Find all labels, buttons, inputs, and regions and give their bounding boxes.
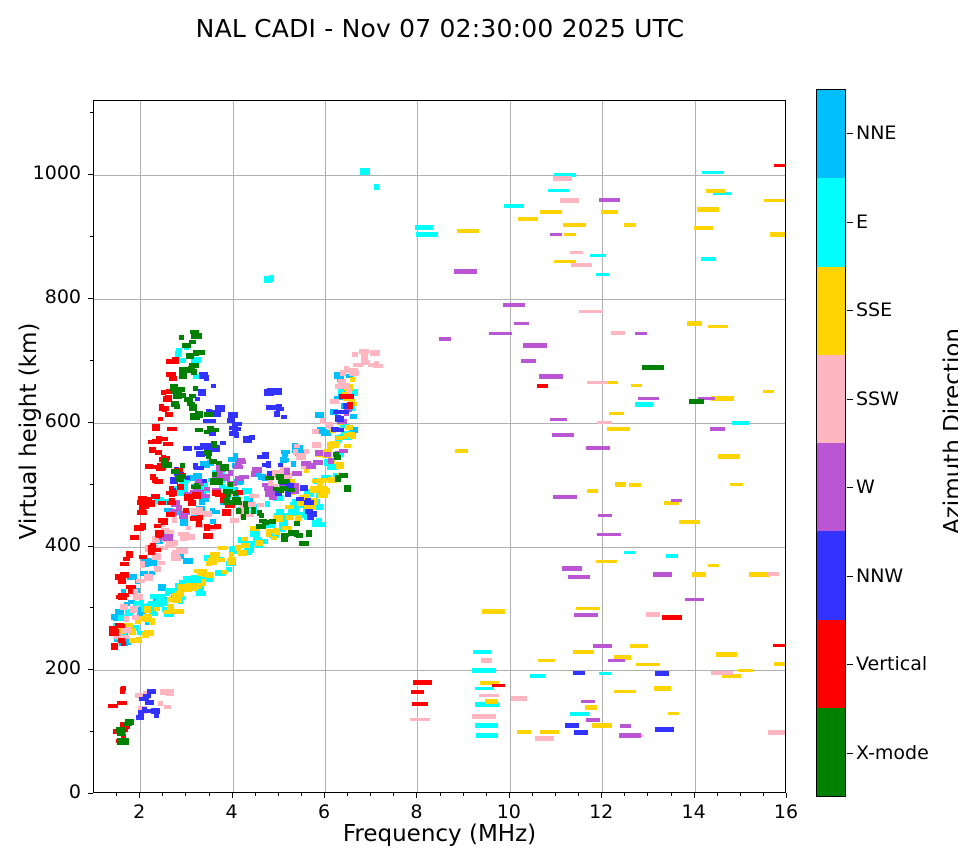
data-point — [222, 509, 231, 516]
data-point — [514, 322, 529, 325]
data-point — [416, 232, 438, 237]
data-point — [137, 500, 142, 505]
data-point — [264, 276, 271, 283]
data-point — [662, 615, 682, 620]
data-point — [635, 402, 653, 407]
data-point — [195, 397, 200, 401]
data-point — [476, 733, 498, 738]
data-point — [614, 690, 636, 693]
x-tick — [786, 793, 787, 798]
data-point — [111, 643, 118, 650]
data-point — [586, 718, 600, 722]
data-point — [136, 715, 144, 720]
colorbar-label: Azimuth Direction — [940, 271, 958, 591]
data-point — [327, 442, 334, 449]
data-point — [164, 705, 171, 709]
data-point — [244, 507, 249, 514]
gridline-vertical — [695, 101, 696, 792]
x-tick-minor — [162, 793, 163, 796]
data-point — [304, 500, 314, 505]
data-point — [273, 487, 279, 491]
data-point — [237, 458, 245, 464]
data-point — [296, 533, 303, 538]
data-point — [585, 705, 597, 710]
data-point — [193, 386, 198, 391]
data-point — [280, 486, 288, 491]
data-point — [624, 223, 636, 227]
colorbar-tick — [847, 310, 853, 311]
data-point — [475, 687, 494, 690]
data-point — [539, 374, 563, 379]
data-point — [156, 532, 162, 538]
x-tick-minor — [740, 793, 741, 796]
data-point — [133, 594, 143, 600]
data-point — [145, 700, 154, 705]
data-point — [593, 644, 612, 648]
data-point — [299, 541, 309, 546]
data-point — [504, 204, 524, 208]
data-point — [768, 572, 779, 576]
data-point — [304, 469, 309, 473]
data-point — [540, 730, 559, 734]
x-tick-minor — [532, 793, 533, 796]
colorbar-band-ssw — [817, 355, 845, 443]
data-point — [266, 405, 276, 410]
data-point — [292, 471, 302, 476]
data-point — [109, 629, 119, 636]
data-point — [347, 402, 353, 409]
data-point — [220, 464, 229, 471]
data-point — [148, 440, 153, 444]
data-point — [257, 503, 264, 507]
data-point — [204, 450, 212, 455]
data-point — [177, 484, 184, 490]
data-point — [489, 332, 512, 335]
data-point — [713, 192, 731, 195]
data-point — [291, 461, 296, 467]
colorbar-tick — [847, 399, 853, 400]
data-point — [163, 442, 173, 446]
data-point — [259, 519, 267, 523]
data-point — [281, 415, 287, 419]
data-point — [454, 269, 477, 274]
data-point — [154, 711, 159, 718]
data-point — [179, 373, 187, 379]
x-tick-minor — [463, 793, 464, 796]
data-point — [149, 447, 156, 453]
data-point — [154, 524, 161, 528]
data-point — [587, 381, 608, 384]
data-point — [587, 489, 598, 493]
data-point — [172, 517, 177, 523]
colorbar-band-vertical — [817, 620, 845, 708]
colorbar-tick — [847, 487, 853, 488]
data-point — [611, 331, 625, 335]
data-point — [214, 524, 221, 529]
colorbar-tick-label: Vertical — [856, 653, 927, 675]
data-point — [179, 474, 185, 479]
data-point — [130, 606, 138, 613]
data-point — [148, 545, 154, 550]
data-point — [687, 321, 702, 326]
data-point — [198, 389, 206, 396]
data-point — [579, 310, 603, 313]
data-point — [666, 554, 678, 558]
colorbar-tick — [847, 222, 853, 223]
data-point — [117, 738, 125, 745]
y-tick-label: 1000 — [11, 162, 81, 184]
data-point — [324, 452, 331, 457]
data-point — [250, 530, 260, 537]
data-point — [139, 555, 147, 559]
data-point — [193, 350, 199, 356]
data-point — [172, 540, 178, 546]
data-point — [165, 412, 173, 417]
data-point — [492, 684, 505, 687]
data-point — [211, 384, 216, 388]
data-point — [189, 363, 199, 368]
gridline-horizontal — [94, 299, 785, 300]
data-point — [206, 572, 214, 578]
data-point — [350, 414, 357, 419]
data-point — [152, 424, 160, 431]
data-point — [523, 343, 547, 348]
data-point — [347, 432, 355, 437]
x-tick-minor — [763, 793, 764, 796]
data-point — [194, 466, 204, 470]
data-point — [144, 574, 153, 581]
data-point — [203, 419, 213, 423]
data-point — [530, 674, 545, 678]
y-tick-minor — [90, 607, 93, 608]
data-point — [233, 453, 238, 457]
data-point — [204, 487, 210, 491]
data-point — [294, 521, 300, 526]
x-tick-minor — [209, 793, 210, 796]
data-point — [692, 572, 706, 577]
data-point — [560, 198, 579, 203]
data-point — [285, 505, 294, 509]
data-point — [332, 399, 338, 403]
data-point — [482, 609, 505, 614]
x-tick — [601, 793, 602, 798]
data-point — [278, 463, 283, 467]
data-point — [708, 564, 719, 567]
x-tick-minor — [370, 793, 371, 796]
data-point — [475, 723, 498, 728]
data-point — [344, 383, 349, 389]
y-tick — [88, 546, 93, 547]
data-point — [312, 442, 321, 448]
data-point — [654, 686, 671, 691]
y-tick — [88, 298, 93, 299]
data-point — [730, 483, 743, 486]
data-point — [174, 609, 184, 614]
gridline-vertical — [325, 101, 326, 792]
colorbar-tick-label: W — [856, 476, 875, 498]
data-point — [160, 689, 170, 695]
data-point — [671, 499, 682, 502]
colorbar-tick — [847, 133, 853, 134]
data-point — [576, 607, 600, 610]
data-point — [145, 615, 152, 622]
data-point — [223, 498, 230, 505]
data-point — [415, 225, 433, 230]
data-point — [574, 613, 598, 617]
data-point — [128, 587, 133, 594]
data-point — [255, 540, 263, 546]
x-tick-minor — [717, 793, 718, 796]
data-point — [413, 680, 432, 685]
data-point — [169, 376, 177, 381]
data-point — [234, 501, 242, 505]
data-point — [630, 644, 648, 648]
data-point — [774, 662, 786, 666]
y-tick-label: 200 — [11, 657, 81, 679]
data-point — [537, 384, 548, 388]
y-tick-minor — [90, 360, 93, 361]
data-point — [202, 479, 207, 483]
data-point — [171, 556, 181, 561]
data-point — [199, 499, 205, 505]
data-point — [352, 352, 358, 357]
data-point — [596, 273, 609, 276]
data-point — [178, 387, 185, 392]
data-point — [479, 694, 499, 697]
data-point — [553, 495, 577, 499]
data-point — [521, 359, 536, 363]
data-point — [300, 485, 308, 491]
y-tick — [88, 174, 93, 175]
data-point — [738, 669, 753, 672]
data-point — [664, 501, 679, 505]
data-point — [204, 524, 210, 531]
data-point — [333, 410, 342, 414]
data-point — [252, 467, 260, 472]
data-point — [117, 701, 127, 705]
data-point — [599, 198, 620, 202]
data-point — [574, 730, 588, 735]
data-point — [172, 593, 180, 600]
data-point — [503, 303, 525, 307]
y-tick — [88, 669, 93, 670]
data-point — [154, 548, 161, 552]
data-point — [176, 548, 181, 554]
y-tick — [88, 422, 93, 423]
data-point — [694, 226, 713, 230]
x-tick-minor — [393, 793, 394, 796]
x-axis-label: Frequency (MHz) — [93, 821, 786, 847]
data-point — [562, 566, 582, 571]
data-point — [230, 518, 239, 523]
data-point — [155, 450, 162, 455]
data-point — [241, 543, 250, 548]
data-point — [638, 397, 659, 400]
data-point — [124, 616, 129, 622]
data-point — [169, 501, 176, 505]
data-point — [344, 444, 351, 448]
data-point — [550, 233, 562, 236]
data-point — [199, 372, 208, 379]
data-point — [334, 455, 341, 460]
data-point — [196, 520, 202, 527]
data-point — [706, 189, 725, 193]
data-point — [276, 404, 282, 411]
y-tick-minor — [90, 484, 93, 485]
data-point — [266, 461, 271, 468]
data-point — [295, 515, 302, 521]
data-point — [171, 469, 180, 474]
data-point — [679, 520, 700, 524]
data-point — [668, 712, 679, 715]
data-point — [241, 537, 248, 541]
data-point — [222, 570, 228, 574]
data-point — [312, 520, 322, 527]
data-point — [286, 515, 294, 520]
data-point — [485, 699, 498, 704]
data-point — [233, 465, 243, 469]
data-point — [518, 217, 538, 221]
data-point — [655, 671, 669, 676]
data-point — [157, 561, 165, 565]
data-point — [161, 437, 168, 441]
data-point — [191, 485, 201, 489]
data-point — [608, 659, 625, 662]
data-point — [339, 449, 348, 453]
colorbar-band-sse — [817, 267, 845, 355]
data-point — [473, 650, 491, 654]
data-point — [180, 463, 185, 468]
data-point — [265, 476, 274, 480]
data-point — [294, 444, 300, 448]
data-point — [312, 479, 321, 483]
x-tick — [416, 793, 417, 798]
x-tick-minor — [486, 793, 487, 796]
data-point — [620, 724, 631, 728]
x-tick-minor — [301, 793, 302, 796]
data-point — [156, 436, 162, 443]
data-point — [210, 552, 220, 558]
data-point — [481, 658, 492, 663]
data-point — [596, 560, 617, 563]
data-point — [126, 551, 133, 558]
data-point — [455, 449, 468, 453]
x-tick-label: 10 — [479, 801, 539, 823]
gridline-horizontal — [94, 670, 785, 671]
colorbar-tick-label: SSW — [856, 388, 899, 410]
data-point — [348, 394, 354, 399]
data-point — [149, 465, 159, 469]
data-point — [573, 650, 594, 654]
data-point — [553, 176, 572, 181]
colorbar-tick-label: X-mode — [856, 742, 929, 764]
data-point — [373, 364, 383, 368]
data-point — [146, 500, 155, 507]
data-point — [548, 189, 569, 192]
data-point — [306, 530, 312, 537]
data-point — [236, 508, 241, 514]
colorbar-band-w — [817, 443, 845, 531]
data-point — [281, 450, 290, 454]
colorbar-tick-label: SSE — [856, 299, 892, 321]
data-point — [296, 453, 306, 460]
data-point — [161, 519, 168, 525]
data-point — [629, 483, 641, 487]
data-point — [573, 671, 585, 675]
data-point — [120, 562, 129, 566]
data-point — [344, 485, 351, 492]
data-point — [335, 416, 344, 422]
data-point — [412, 702, 428, 706]
data-point — [655, 727, 674, 732]
x-tick-label: 14 — [664, 801, 724, 823]
data-point — [220, 441, 226, 445]
data-point — [211, 441, 217, 448]
data-point — [570, 712, 589, 716]
data-point — [370, 350, 380, 356]
data-point — [345, 425, 353, 430]
data-point — [335, 384, 344, 389]
data-point — [229, 431, 238, 436]
data-point — [171, 401, 179, 407]
data-point — [257, 455, 265, 459]
data-point — [125, 719, 134, 725]
data-point — [175, 351, 181, 357]
data-point — [169, 492, 175, 497]
data-point — [331, 427, 339, 432]
data-point — [770, 232, 785, 237]
data-point — [763, 390, 774, 393]
data-point — [619, 733, 641, 738]
data-point — [597, 533, 621, 536]
data-point — [472, 668, 496, 673]
gridline-horizontal — [94, 175, 785, 176]
colorbar-tick-label: NNE — [856, 122, 896, 144]
y-tick — [88, 793, 93, 794]
data-point — [121, 641, 126, 646]
x-tick — [509, 793, 510, 798]
data-point — [265, 501, 270, 507]
x-tick-label: 4 — [202, 801, 262, 823]
colorbar-band-nne — [817, 90, 845, 178]
data-point — [642, 365, 664, 370]
data-point — [228, 482, 233, 487]
data-point — [284, 468, 290, 475]
data-point — [130, 535, 139, 540]
data-point — [615, 482, 626, 487]
data-point — [472, 714, 496, 719]
data-point — [241, 514, 246, 520]
data-point — [601, 210, 618, 214]
data-point — [216, 558, 225, 562]
gridline-vertical — [417, 101, 418, 792]
data-point — [410, 718, 430, 721]
data-point — [108, 704, 118, 708]
data-point — [571, 263, 592, 267]
x-tick-minor — [255, 793, 256, 796]
data-point — [228, 412, 238, 418]
colorbar-band-x-mode — [817, 708, 845, 796]
data-point — [653, 572, 672, 577]
data-point — [581, 700, 595, 703]
data-point — [154, 607, 160, 611]
data-point — [708, 325, 728, 328]
data-point — [120, 572, 129, 578]
data-point — [598, 514, 612, 517]
data-point — [592, 723, 612, 728]
data-point — [540, 210, 562, 214]
data-point — [116, 727, 126, 733]
